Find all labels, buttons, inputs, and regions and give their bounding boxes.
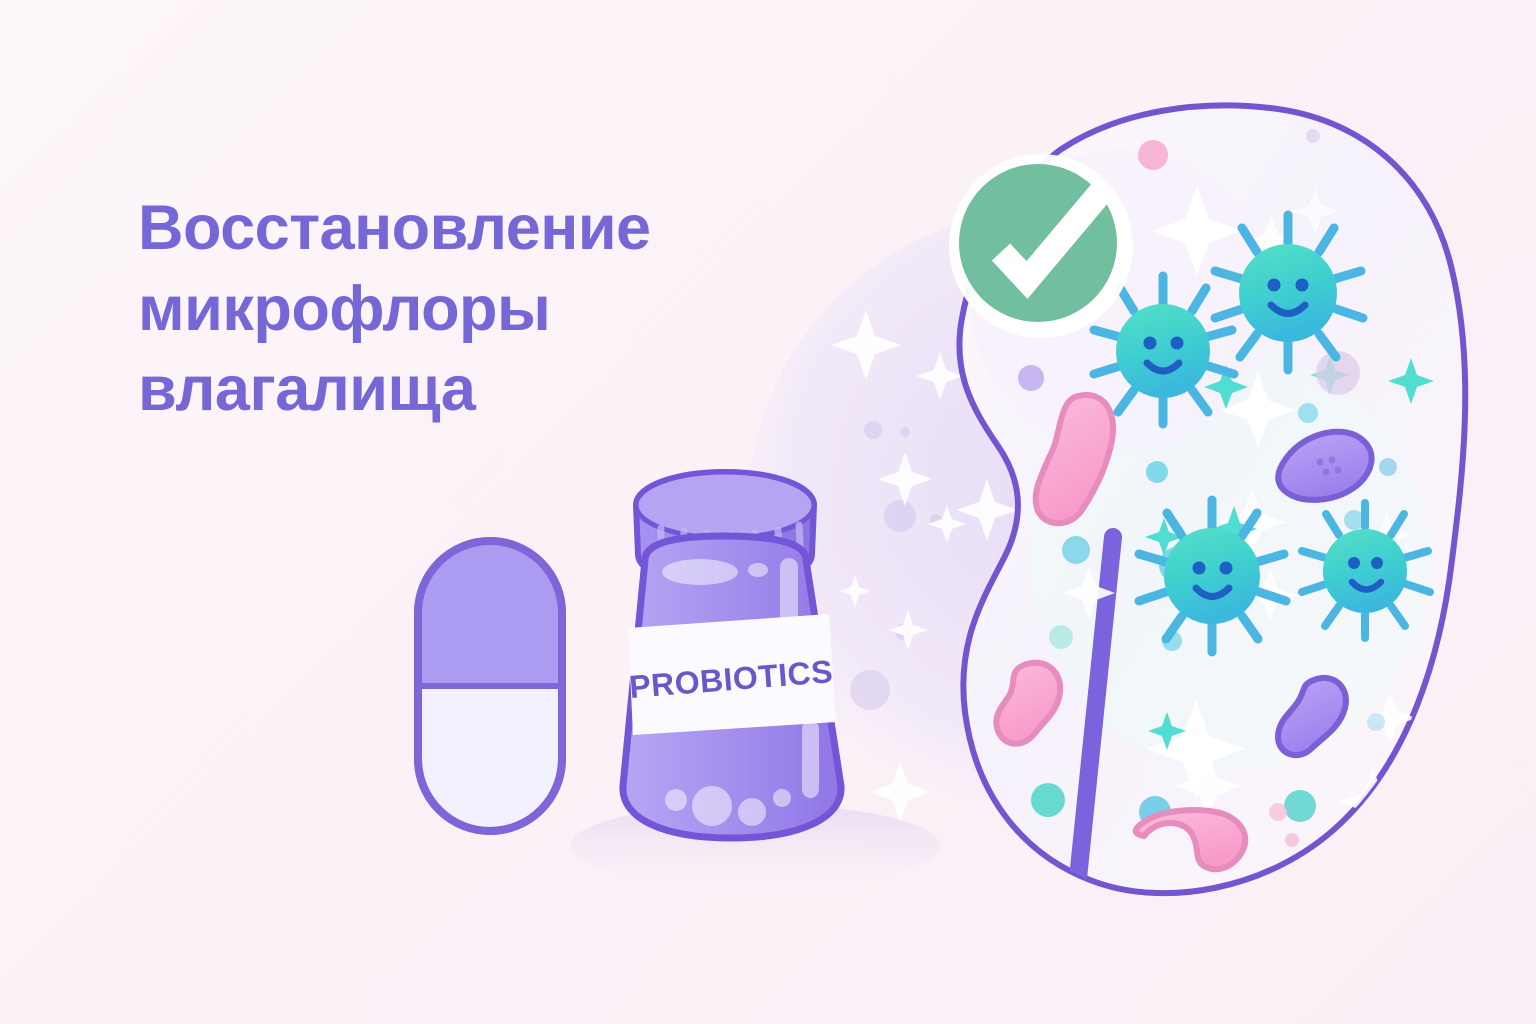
- capsule-pill: [418, 541, 562, 831]
- probiotics-bottle: PROBIOTICS: [623, 472, 841, 838]
- status-badge-verified: [949, 154, 1133, 338]
- illustration: PROBIOTICS: [0, 0, 1536, 1024]
- poster-canvas: Восстановление микрофлоры влагалища: [0, 0, 1536, 1024]
